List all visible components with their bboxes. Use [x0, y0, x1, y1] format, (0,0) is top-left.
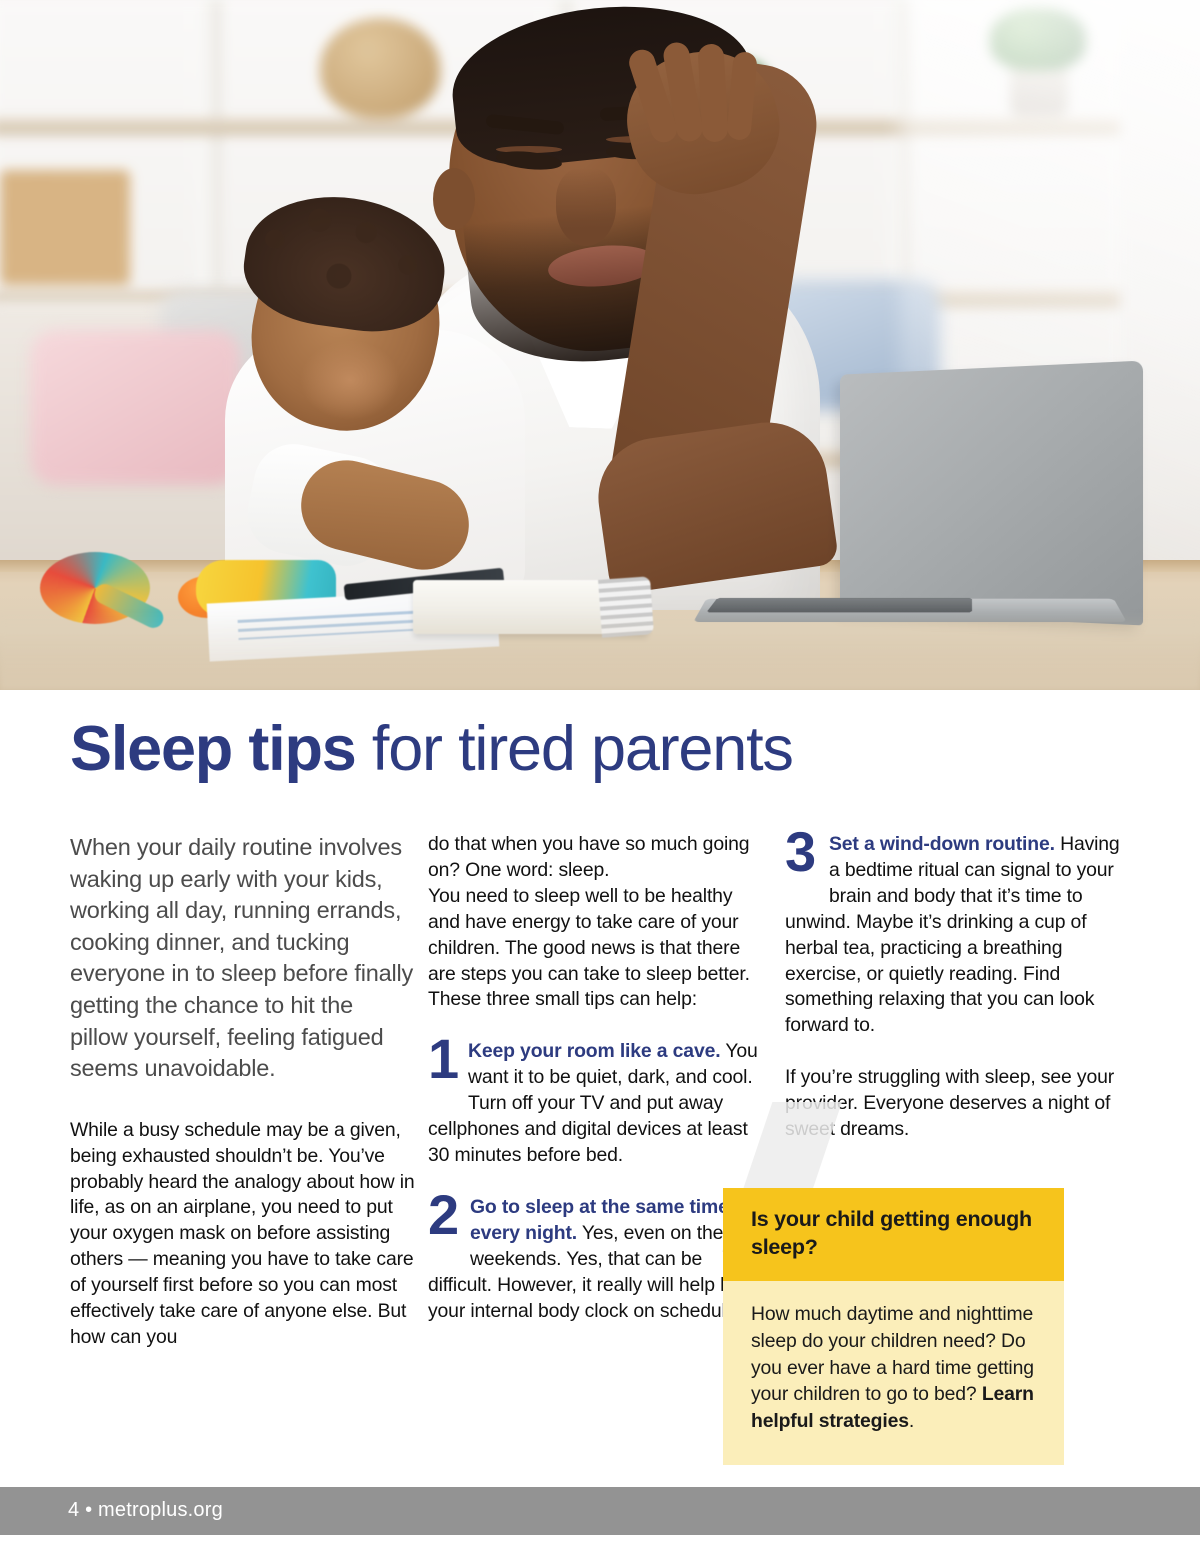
footer-page-label: 4 • metroplus.org [68, 1499, 223, 1522]
tip-item: 2 Go to sleep at the same time every nig… [428, 1195, 766, 1325]
tip-item: 1 Keep your room like a cave. You want i… [428, 1039, 766, 1169]
tip-number: 1 [428, 1031, 457, 1087]
lede-paragraph: When your daily routine involves waking … [70, 832, 415, 1085]
page-title: Sleep tips for tired parents [70, 718, 1130, 781]
column-one: When your daily routine involves waking … [70, 832, 415, 1351]
hero-scene [0, 0, 1200, 690]
tip-text: Go to sleep at the same time every night… [428, 1195, 766, 1325]
page-title-emphasis: Sleep tips [70, 714, 356, 784]
laptop-keyboard [706, 598, 972, 613]
column-one-paragraph: While a busy schedule may be a given, be… [70, 1118, 415, 1351]
cushion-pink [30, 330, 240, 485]
column-two: do that when you have so much going on? … [428, 832, 766, 1324]
tip-text: Keep your room like a cave. You want it … [428, 1039, 766, 1169]
column-two-paragraph-two: You need to sleep well to be healthy and… [428, 884, 766, 1014]
father-ear [433, 168, 475, 230]
column-two-paragraph-continued: do that when you have so much going on? … [428, 832, 766, 884]
column-three: 3 Set a wind-down routine. Having a bedt… [785, 832, 1134, 1143]
callout-cta-period: . [909, 1410, 914, 1432]
hero-photo [0, 0, 1200, 690]
callout-header: Is your child getting enough sleep? [723, 1188, 1064, 1281]
tip-number: 2 [428, 1187, 457, 1243]
father-finger [697, 43, 728, 142]
photo-depth-blur [0, 612, 1200, 690]
tip-item: 3 Set a wind-down routine. Having a bedt… [785, 832, 1134, 1039]
callout-box: Is your child getting enough sleep? How … [723, 1188, 1064, 1465]
baby-cheek [300, 340, 400, 420]
laptop-screen [840, 361, 1143, 626]
tip-detail: Having a bedtime ritual can signal to yo… [785, 833, 1120, 1036]
tip-number: 3 [785, 824, 814, 880]
tip-lead-in: Keep your room like a cave. [468, 1040, 720, 1062]
tip-text: Set a wind-down routine. Having a bedtim… [785, 832, 1134, 1039]
article-body: Sleep tips for tired parents When your d… [0, 690, 1200, 1490]
page-title-rest: for tired parents [356, 714, 793, 784]
tip-lead-in: Set a wind-down routine. [829, 833, 1055, 855]
callout-text: How much daytime and nighttime sleep do … [751, 1301, 1036, 1435]
callout-heading: Is your child getting enough sleep? [751, 1206, 1036, 1261]
callout-body: How much daytime and nighttime sleep do … [723, 1281, 1064, 1465]
father-nose [556, 168, 616, 246]
